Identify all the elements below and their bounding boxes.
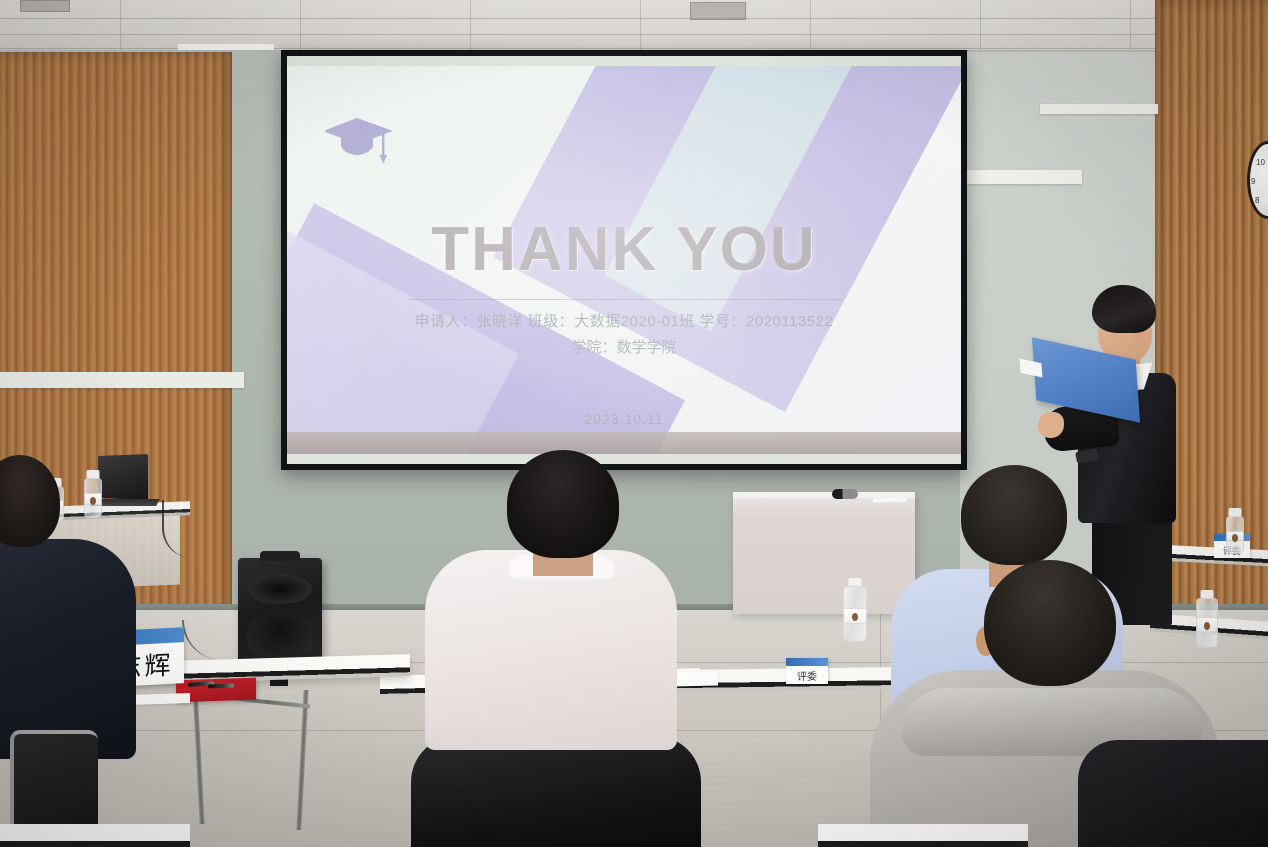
graduation-cap-icon: [325, 114, 395, 166]
judge-jacket: [0, 539, 136, 759]
slide-meta-line: 申请人：张晓洋 班级：大数据2020-01班 学号：2020113522: [287, 310, 961, 331]
speaker-tweeter: [248, 574, 312, 604]
hair: [961, 465, 1067, 565]
speaker-woofer: [247, 610, 313, 660]
presentation-slide: THANK YOU 申请人：张晓洋 班级：大数据2020-01班 学号：2020…: [287, 66, 961, 454]
slide-divider: [407, 299, 843, 300]
name-card-text: 评委: [797, 668, 817, 683]
name-card-band: [786, 658, 828, 666]
microphone: [832, 489, 858, 499]
slide-date: 2023.10.11: [287, 411, 961, 427]
presenter-hair: [1092, 285, 1156, 333]
presenter-hand: [1038, 412, 1064, 438]
bottle-label: [1227, 531, 1243, 542]
classroom-photo-scene: 10 9 8 THANK YOU 申请人：张晓洋 班: [0, 0, 1268, 847]
slide-title: THANK YOU: [287, 214, 961, 285]
whiteboard-strip: [0, 372, 244, 388]
judge-hair: [0, 455, 60, 547]
hair: [984, 560, 1116, 686]
pa-speaker: [238, 558, 322, 670]
foreground-table-right: [818, 824, 1028, 847]
screen-surface: THANK YOU 申请人：张晓洋 班级：大数据2020-01班 学号：2020…: [287, 56, 961, 464]
name-card-center: 评委: [786, 658, 828, 684]
bottle-body: [843, 586, 867, 642]
audience-white-shirt: [415, 450, 685, 847]
bottle-body: [1226, 516, 1244, 554]
projector-screen: THANK YOU 申请人：张晓洋 班级：大数据2020-01班 学号：2020…: [281, 50, 967, 470]
bottle-label: [844, 608, 866, 624]
clock-number-9: 9: [1251, 177, 1255, 186]
water-bottle[interactable]: [843, 578, 867, 642]
ceiling-vent-icon: [20, 0, 70, 12]
clock-number-8: 8: [1255, 196, 1259, 205]
clock-number-10: 10: [1256, 158, 1265, 167]
whiteboard-strip: [966, 170, 1082, 184]
water-bottle[interactable]: [1226, 508, 1244, 554]
ceiling-vent-icon: [690, 2, 746, 20]
foreground-dark-coat: [1078, 740, 1268, 847]
foreground-table-left: [0, 824, 190, 847]
slide-school-line: 学院：数学学院: [287, 336, 961, 357]
whiteboard-strip: [1040, 104, 1158, 114]
slide-applicant: 申请人：张晓洋 班级：大数据2020-01班 学号：2020113522: [415, 313, 834, 330]
chair: [411, 736, 701, 847]
hair: [507, 450, 619, 558]
speaker-handle: [260, 551, 300, 561]
